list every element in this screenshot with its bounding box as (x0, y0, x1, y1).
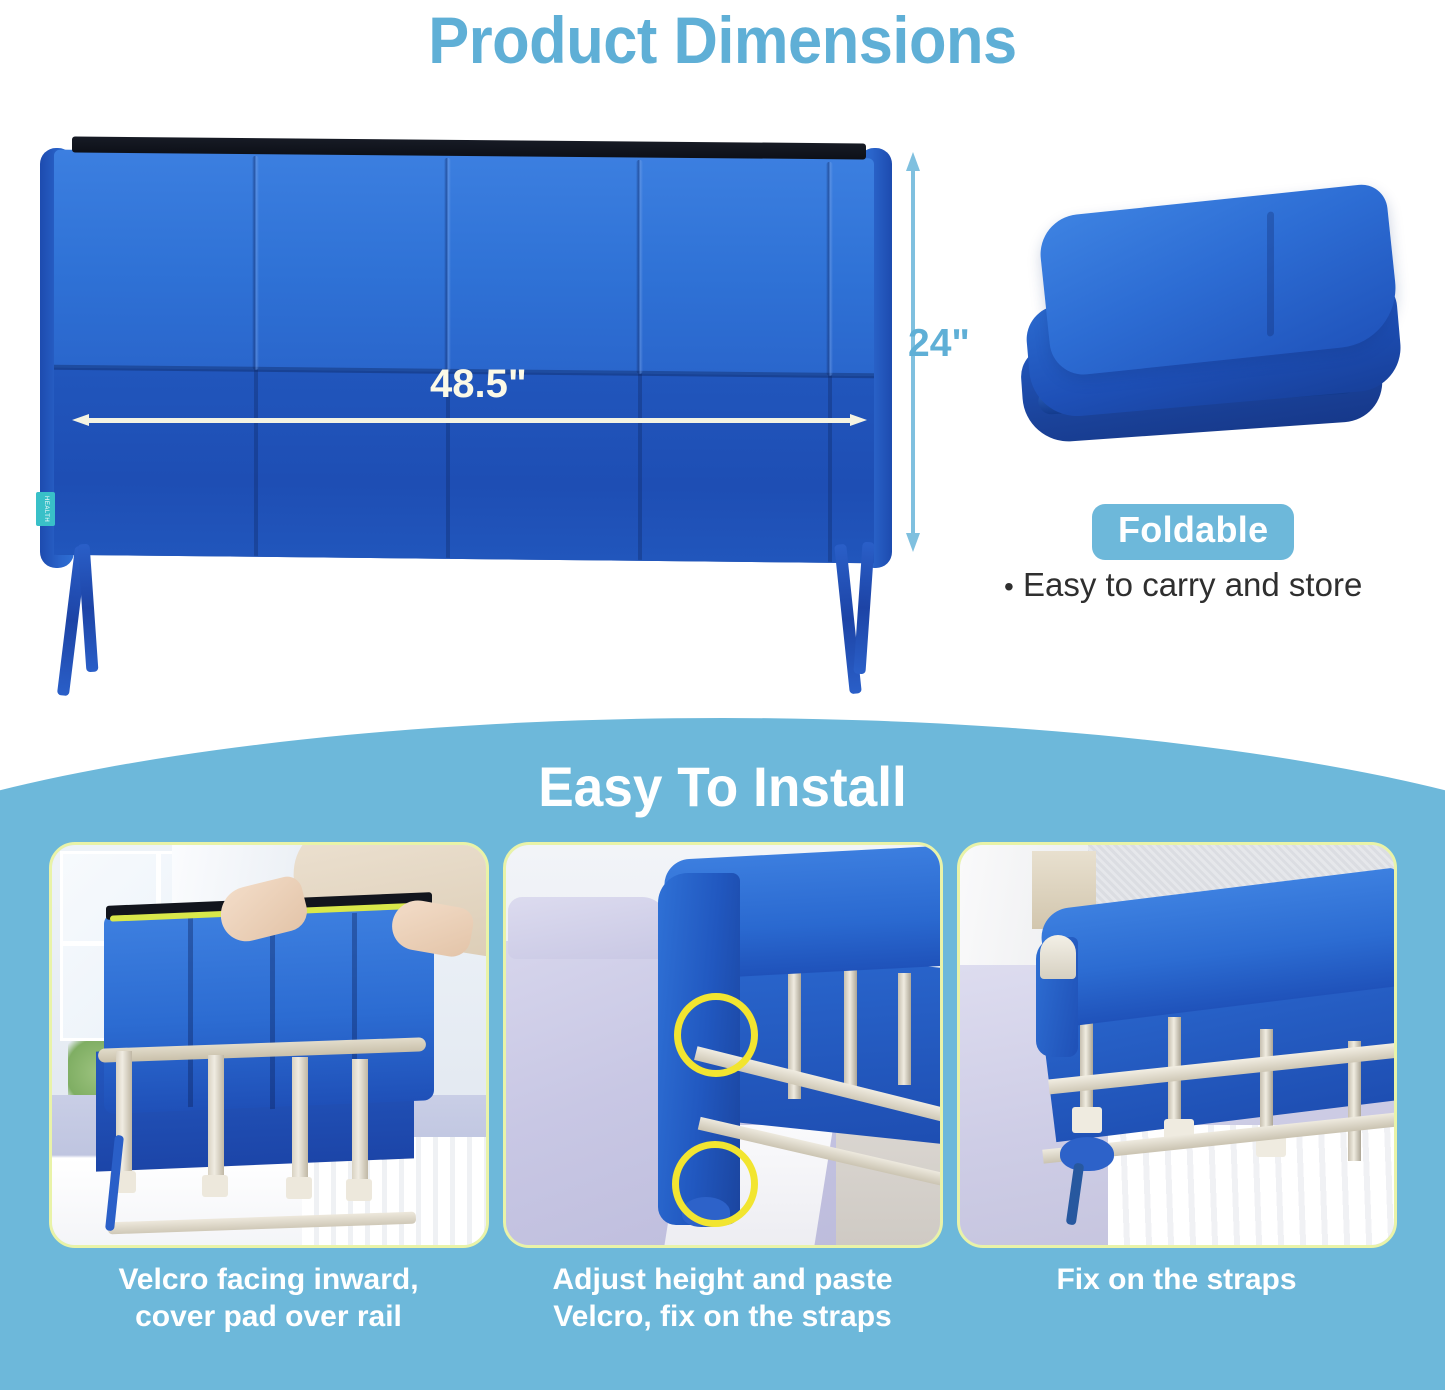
step-2-photo (503, 842, 943, 1248)
rail-post (898, 973, 911, 1085)
pad-upper-half (54, 150, 874, 377)
quilt-seam-lower (254, 370, 258, 556)
quilt-seam (252, 156, 259, 370)
product-photo-folded (1022, 196, 1412, 471)
tie-strap-bow (1060, 1137, 1114, 1171)
width-label: 48.5" (430, 362, 527, 407)
quilt-seam (826, 162, 833, 376)
highlight-circle-strap (672, 1141, 758, 1227)
quilt-seam-lower (638, 374, 642, 560)
bullet-marker-icon: • (1004, 571, 1014, 602)
step-1-photo (49, 842, 489, 1248)
pad-seam (270, 911, 275, 1109)
rail-post (844, 961, 857, 1093)
easy-to-install-section: Easy To Install (0, 718, 1445, 1390)
foldable-bullet-text: Easy to carry and store (1023, 566, 1362, 603)
install-steps-list: Velcro facing inward, cover pad over rai… (0, 842, 1445, 1335)
rail-post (292, 1057, 308, 1185)
rail-post (352, 1059, 368, 1187)
step-1-caption: Velcro facing inward, cover pad over rai… (49, 1262, 489, 1335)
tie-strap (78, 544, 99, 673)
rail-foot (202, 1175, 228, 1197)
brand-tag: HEALTH (36, 492, 55, 526)
install-step-2: Adjust height and paste Velcro, fix on t… (503, 842, 943, 1335)
foldable-bullet: • Easy to carry and store (1004, 566, 1362, 604)
rail-foot (346, 1179, 372, 1201)
highlight-circle-velcro (674, 993, 758, 1077)
rail-foot (1072, 1107, 1102, 1133)
quilt-seam (636, 160, 643, 374)
rail-pad-panel (730, 946, 943, 1145)
step-3-photo (957, 842, 1397, 1248)
pad-body (54, 150, 874, 564)
quilt-seam (444, 158, 451, 372)
step-2-caption: Adjust height and paste Velcro, fix on t… (503, 1262, 943, 1335)
arrow-line (86, 418, 853, 423)
install-step-1: Velcro facing inward, cover pad over rai… (49, 842, 489, 1335)
pillow (508, 897, 668, 959)
pad-seam (188, 909, 193, 1107)
step-3-caption: Fix on the straps (957, 1262, 1397, 1299)
arrow-head-down-icon (906, 533, 920, 552)
product-dimensions-section: Product Dimensions HEALTH 48.5" (0, 0, 1445, 760)
rail-end-cap (1040, 935, 1076, 979)
install-step-3: Fix on the straps (957, 842, 1397, 1335)
arrow-head-right-icon (850, 414, 867, 426)
width-dimension-arrow (72, 414, 867, 426)
foldable-badge: Foldable (1092, 504, 1294, 560)
rail-post (208, 1055, 224, 1183)
height-label: 24" (908, 322, 970, 366)
folded-crease (1267, 211, 1274, 336)
install-title: Easy To Install (36, 754, 1409, 819)
page-title: Product Dimensions (51, 2, 1395, 78)
rail-foot (286, 1177, 312, 1199)
quilt-seam-lower (828, 376, 832, 562)
